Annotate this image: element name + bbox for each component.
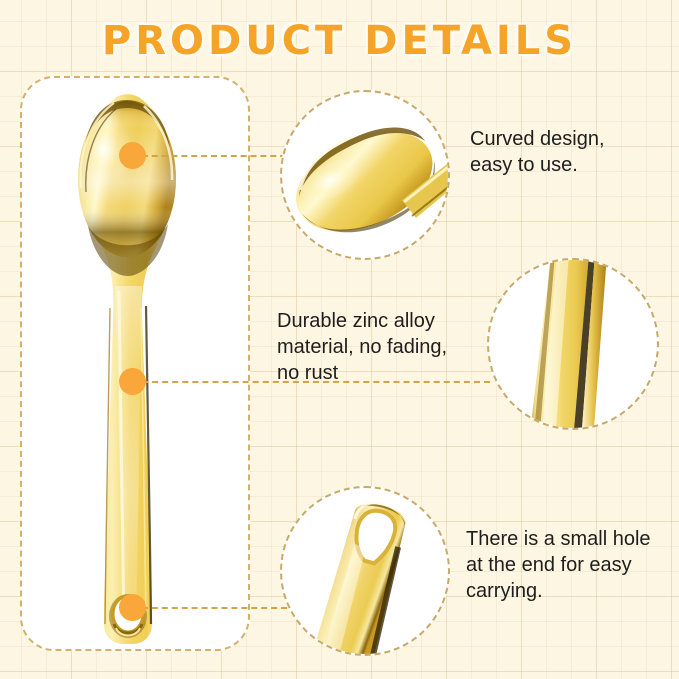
callout-dot-end[interactable] <box>119 594 146 621</box>
connector-line-small-hole <box>132 607 297 609</box>
caption-zinc-alloy: Durable zinc alloy material, no fading, … <box>277 308 477 386</box>
callout-dot-head[interactable] <box>119 142 146 169</box>
detail-circle-handle-end-hole <box>280 486 450 656</box>
caption-small-hole: There is a small hole at the end for eas… <box>466 526 676 604</box>
page-title: PRODUCT DETAILS <box>0 18 679 64</box>
connector-line-curved-design <box>132 155 296 157</box>
caption-curved-design: Curved design, easy to use. <box>470 126 675 178</box>
detail-circle-spoon-head <box>280 90 450 260</box>
detail-circle-handle-shaft <box>487 258 659 430</box>
callout-dot-handle[interactable] <box>119 368 146 395</box>
